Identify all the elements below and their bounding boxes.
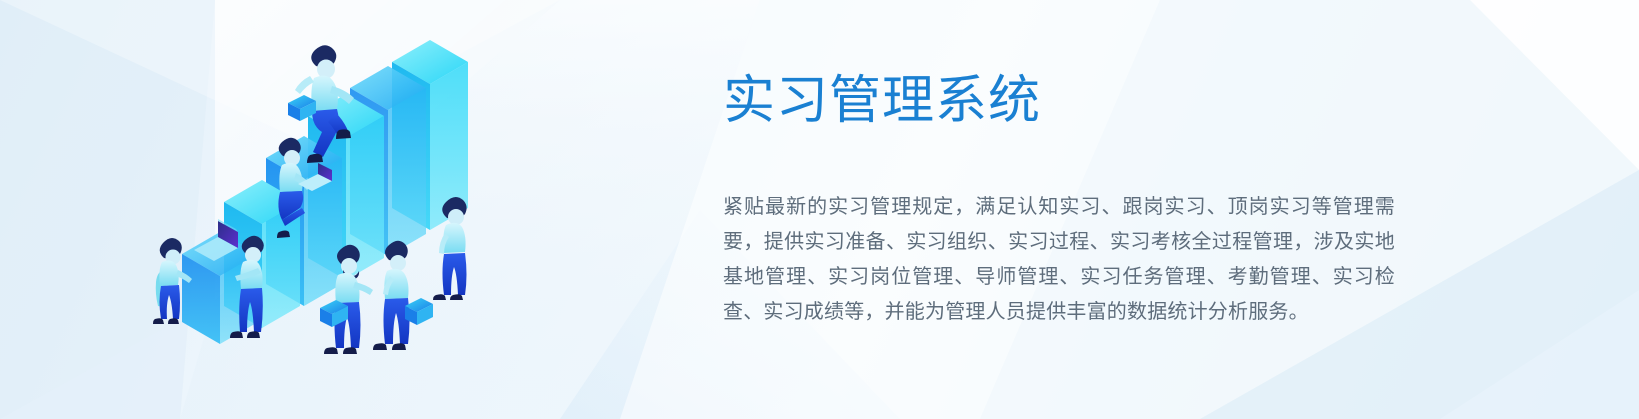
page-title: 实习管理系统 (723, 70, 1413, 132)
growth-chart-illustration (140, 18, 500, 358)
briefcase-right-man (405, 298, 433, 325)
banner-text-block: 实习管理系统 紧贴最新的实习管理规定，满足认知实习、跟岗实习、顶岗实习等管理需要… (723, 70, 1413, 330)
banner: 实习管理系统 紧贴最新的实习管理规定，满足认知实习、跟岗实习、顶岗实习等管理需要… (0, 0, 1639, 419)
banner-description: 紧贴最新的实习管理规定，满足认知实习、跟岗实习、顶岗实习等管理需要，提供实习准备… (723, 132, 1395, 330)
